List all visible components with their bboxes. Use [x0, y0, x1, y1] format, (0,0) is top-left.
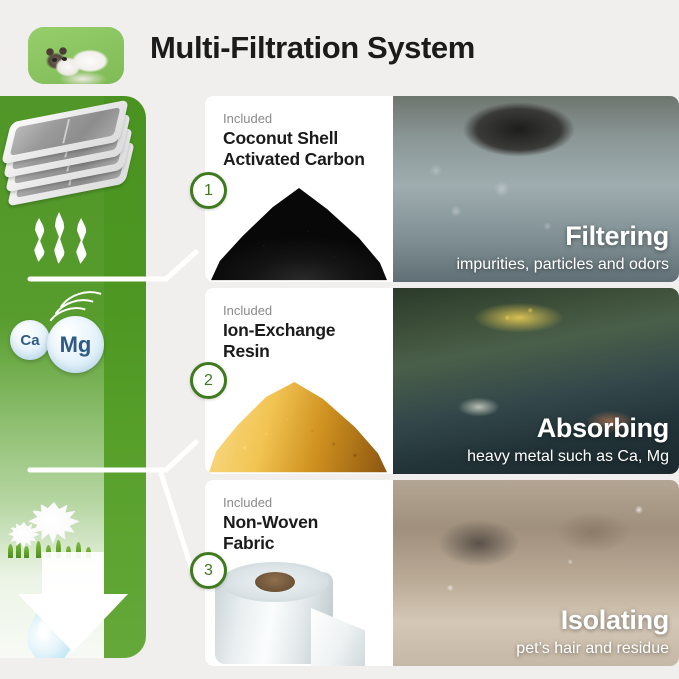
- pond-water-photo: Absorbing heavy metal such as Ca, Mg: [393, 288, 679, 474]
- material-line-2: Activated Carbon: [223, 149, 365, 169]
- stage-panel-1[interactable]: Included Coconut Shell Activated Carbon …: [205, 96, 679, 282]
- activated-carbon-powder-icon: [211, 188, 387, 282]
- stage-3-card: Included Non-Woven Fabric: [205, 480, 393, 666]
- page-title: Multi-Filtration System: [150, 30, 475, 66]
- stage-caption: Filtering: [565, 221, 669, 252]
- ion-exchange-resin-beads-icon: [209, 382, 387, 474]
- stage-2-card: Included Ion-Exchange Resin: [205, 288, 393, 474]
- woman-with-cat-on-rug-photo: Isolating pet’s hair and residue: [393, 480, 679, 666]
- filter-pads-stack-icon: [6, 110, 140, 206]
- header: Multi-Filtration System: [0, 0, 679, 96]
- water-with-charcoal-photo: Filtering impurities, particles and odor…: [393, 96, 679, 282]
- stage-panel-3[interactable]: Included Non-Woven Fabric Isolating pet’…: [205, 480, 679, 666]
- non-woven-fabric-roll-icon: [215, 562, 365, 666]
- wave-stroke: [76, 218, 87, 264]
- wave-stroke: [54, 212, 65, 264]
- material-line-1: Ion-Exchange: [223, 320, 335, 340]
- material-name: Non-Woven Fabric: [223, 512, 389, 553]
- green-arrow-column: Ca Mg: [0, 96, 146, 658]
- material-line-1: Coconut Shell: [223, 128, 338, 148]
- infographic-root: Multi-Filtration System Ca Mg: [0, 0, 679, 679]
- included-label: Included: [223, 111, 272, 126]
- material-line-2: Resin: [223, 341, 270, 361]
- step-number-3[interactable]: 3: [190, 552, 227, 589]
- stage-subcaption: heavy metal such as Ca, Mg: [467, 448, 669, 466]
- odor-waves-icon: [32, 210, 116, 266]
- downward-arrow-notch: [18, 556, 128, 652]
- stage-1-card: Included Coconut Shell Activated Carbon: [205, 96, 393, 282]
- ca-mg-bubbles-icon: Ca Mg: [6, 292, 126, 374]
- stage-caption: Absorbing: [537, 413, 669, 444]
- wave-stroke: [34, 218, 45, 262]
- material-line-1: Non-Woven: [223, 512, 318, 532]
- stage-subcaption: pet’s hair and residue: [516, 640, 669, 658]
- stage-panel-2[interactable]: Included Ion-Exchange Resin Absorbing he…: [205, 288, 679, 474]
- material-line-2: Fabric: [223, 533, 274, 553]
- material-name: Coconut Shell Activated Carbon: [223, 128, 389, 169]
- material-name: Ion-Exchange Resin: [223, 320, 389, 361]
- step-number-1[interactable]: 1: [190, 172, 227, 209]
- included-label: Included: [223, 495, 272, 510]
- mg-bubble: Mg: [47, 316, 104, 373]
- stage-caption: Isolating: [561, 605, 669, 636]
- ca-bubble: Ca: [10, 320, 50, 360]
- cat-photo-icon: [28, 27, 124, 84]
- cat-illustration: [28, 27, 124, 84]
- step-number-2[interactable]: 2: [190, 362, 227, 399]
- stage-subcaption: impurities, particles and odors: [456, 256, 669, 274]
- included-label: Included: [223, 303, 272, 318]
